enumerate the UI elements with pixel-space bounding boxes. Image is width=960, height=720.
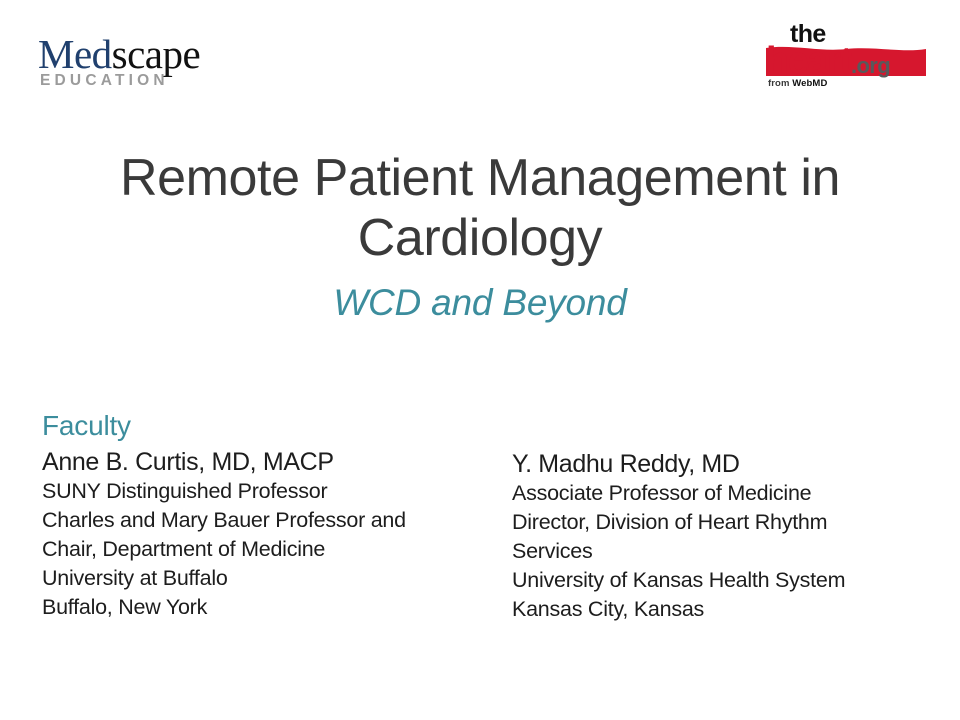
- slide-title: Remote Patient Management in Cardiology: [60, 148, 900, 269]
- faculty-member-1-affiliation-line-0: Associate Professor of Medicine: [512, 479, 932, 508]
- from-label: from: [768, 78, 792, 89]
- faculty-member-0-name: Anne B. Curtis, MD, MACP: [42, 448, 492, 477]
- presentation-slide: Medscape EDUCATION the heart.org from We…: [0, 0, 960, 720]
- faculty-member-0: Anne B. Curtis, MD, MACP SUNY Distinguis…: [42, 448, 492, 623]
- theheart-logo-from-webmd: from WebMD: [768, 78, 827, 89]
- faculty-member-0-affiliation-line-2: Chair, Department of Medicine: [42, 535, 492, 564]
- slide-subtitle: WCD and Beyond: [60, 283, 900, 324]
- faculty-member-1-affiliation-line-4: Kansas City, Kansas: [512, 595, 932, 624]
- medscape-wordmark: Medscape: [38, 34, 248, 75]
- faculty-member-1-affiliation-line-2: Services: [512, 537, 932, 566]
- theheart-logo-the-text: the: [790, 22, 826, 47]
- faculty-member-0-affiliation-line-1: Charles and Mary Bauer Professor and: [42, 506, 492, 535]
- faculty-member-0-affiliation-line-0: SUNY Distinguished Professor: [42, 477, 492, 506]
- faculty-member-0-affiliation-line-4: Buffalo, New York: [42, 593, 492, 622]
- title-block: Remote Patient Management in Cardiology …: [60, 148, 900, 323]
- theheart-logo-org-text: .org: [851, 53, 890, 78]
- medscape-logo-med-text: Med: [38, 31, 112, 77]
- theheart-logo-wordmark: heart.org: [766, 42, 890, 80]
- faculty-member-1: Y. Madhu Reddy, MD Associate Professor o…: [512, 448, 932, 625]
- webmd-label: WebMD: [792, 78, 827, 89]
- faculty-member-1-affiliation-line-1: Director, Division of Heart Rhythm: [512, 508, 932, 537]
- faculty-member-1-affiliation-line-3: University of Kansas Health System: [512, 566, 932, 595]
- faculty-heading: Faculty: [42, 412, 131, 440]
- theheart-org-logo: the heart.org from WebMD: [766, 22, 926, 92]
- medscape-education-logo: Medscape EDUCATION: [38, 34, 248, 94]
- medscape-logo-scape-text: scape: [112, 31, 201, 77]
- faculty-member-0-affiliation-line-3: University at Buffalo: [42, 564, 492, 593]
- faculty-columns: Anne B. Curtis, MD, MACP SUNY Distinguis…: [0, 448, 960, 678]
- faculty-member-0-affiliation: SUNY Distinguished Professor Charles and…: [42, 477, 492, 623]
- medscape-logo-education-tagline: EDUCATION: [40, 72, 248, 90]
- faculty-member-1-affiliation: Associate Professor of Medicine Director…: [512, 479, 932, 625]
- faculty-member-1-name: Y. Madhu Reddy, MD: [512, 450, 932, 479]
